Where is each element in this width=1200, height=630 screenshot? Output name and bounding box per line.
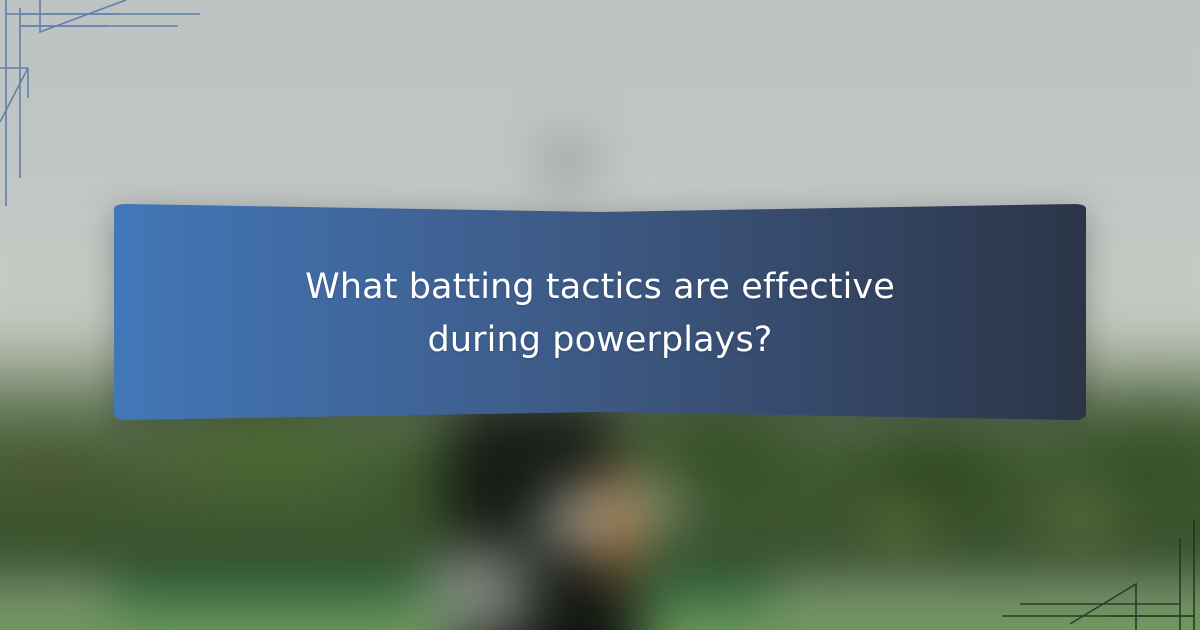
headline-banner: What batting tactics are effective durin… xyxy=(100,203,1100,425)
batter-arm xyxy=(587,450,653,600)
headline-text: What batting tactics are effective durin… xyxy=(250,261,950,367)
share-card: What batting tactics are effective durin… xyxy=(0,0,1200,630)
foliage-haze xyxy=(758,465,1200,585)
banner-text-area: What batting tactics are effective durin… xyxy=(100,203,1100,425)
batter-head xyxy=(534,131,600,184)
structures-region xyxy=(0,435,362,503)
